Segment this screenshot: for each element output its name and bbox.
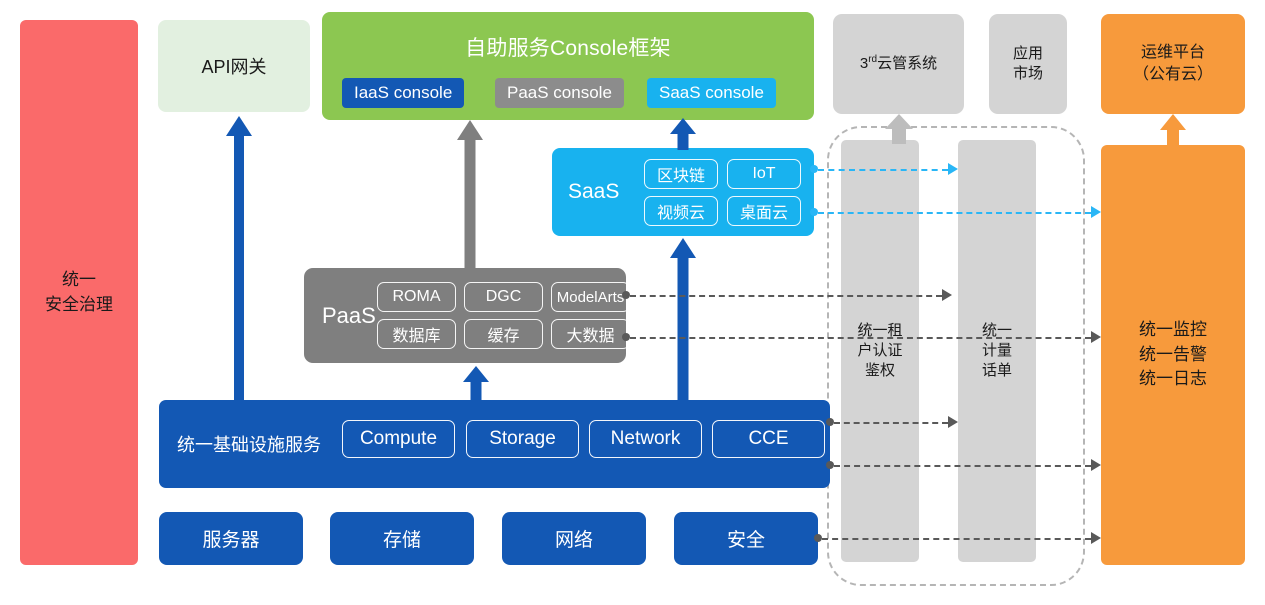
unified-metering-column: 统一 计量 话单 bbox=[958, 140, 1036, 562]
third-party-cloud-management-box[interactable]: 3rd云管系统 bbox=[833, 14, 964, 114]
saas-item-blockchain-label: 区块链 bbox=[657, 162, 705, 186]
ops-platform-line1: 运维平台 bbox=[1141, 42, 1205, 64]
auth-line2: 户认证 bbox=[857, 341, 902, 361]
paas-box: PaaS ROMA DGC ModelArts 数据库 缓存 大数据 bbox=[304, 268, 626, 363]
unified-infrastructure-label: 统一基础设施服务 bbox=[177, 431, 321, 457]
resource-network-label: 网络 bbox=[555, 525, 593, 552]
ops-monitor-line3: 统一日志 bbox=[1139, 367, 1207, 392]
infra-item-storage-label: Storage bbox=[489, 428, 556, 450]
arrow-infra-to-saas bbox=[670, 238, 696, 402]
conn-paas-to-auth-line bbox=[630, 295, 942, 297]
ops-platform-public-cloud-box[interactable]: 运维平台 （公有云） bbox=[1101, 14, 1245, 114]
conn-infra-to-ops-arrowhead bbox=[1091, 459, 1101, 471]
paas-item-roma[interactable]: ROMA bbox=[377, 282, 456, 312]
resource-server-label: 服务器 bbox=[202, 525, 259, 552]
resource-storage-label: 存储 bbox=[383, 525, 421, 552]
infra-item-storage[interactable]: Storage bbox=[466, 420, 579, 458]
self-service-console-frame: 自助服务Console框架 IaaS console PaaS console … bbox=[322, 12, 814, 120]
conn-paas-to-auth-arrowhead bbox=[942, 289, 952, 301]
paas-label: PaaS bbox=[322, 303, 376, 329]
infra-item-network[interactable]: Network bbox=[589, 420, 702, 458]
saas-item-iot-label: IoT bbox=[752, 165, 775, 183]
conn-resource-to-ops-line bbox=[822, 538, 1091, 540]
conn-saas-to-ops-arrowhead bbox=[1091, 206, 1101, 218]
ops-monitoring-panel: 统一监控 统一告警 统一日志 bbox=[1101, 145, 1245, 565]
paas-item-modelarts[interactable]: ModelArts bbox=[551, 282, 630, 312]
saas-item-video-cloud-label: 视频云 bbox=[657, 199, 705, 223]
saas-console-label: SaaS console bbox=[659, 83, 764, 103]
ops-monitor-line1: 统一监控 bbox=[1139, 318, 1207, 343]
conn-saas-ops-dot bbox=[810, 208, 818, 216]
app-market-line2: 市场 bbox=[1013, 64, 1043, 84]
security-governance-line2: 安全治理 bbox=[45, 293, 113, 318]
console-frame-title: 自助服务Console框架 bbox=[322, 32, 814, 62]
security-governance-line1: 统一 bbox=[62, 268, 96, 293]
iaas-console-label: IaaS console bbox=[354, 83, 452, 103]
infra-item-cce[interactable]: CCE bbox=[712, 420, 825, 458]
auth-line3: 鉴权 bbox=[865, 361, 895, 381]
api-gateway-box[interactable]: API网关 bbox=[158, 20, 310, 112]
paas-item-dgc[interactable]: DGC bbox=[464, 282, 543, 312]
resource-security-box[interactable]: 安全 bbox=[674, 512, 818, 565]
api-gateway-label: API网关 bbox=[201, 53, 266, 79]
conn-paas-to-ops-arrowhead bbox=[1091, 331, 1101, 343]
conn-paas-ops-dot bbox=[622, 333, 630, 341]
conn-infra-auth-dot bbox=[826, 418, 834, 426]
conn-resource-to-ops-arrowhead bbox=[1091, 532, 1101, 544]
resource-server-box[interactable]: 服务器 bbox=[159, 512, 303, 565]
paas-item-cache-label: 缓存 bbox=[487, 322, 519, 346]
app-market-line1: 应用 bbox=[1013, 44, 1043, 64]
paas-console-chip[interactable]: PaaS console bbox=[495, 78, 624, 108]
arrow-ops-side-to-ops-top bbox=[1160, 114, 1186, 146]
arrow-shared-to-third-party bbox=[886, 114, 912, 144]
metering-line2: 计量 bbox=[982, 341, 1012, 361]
conn-infra-ops-dot bbox=[826, 461, 834, 469]
saas-item-desktop-cloud-label: 桌面云 bbox=[740, 199, 788, 223]
paas-item-database[interactable]: 数据库 bbox=[377, 319, 456, 349]
arrow-infra-to-api-gateway bbox=[226, 116, 252, 402]
saas-item-desktop-cloud[interactable]: 桌面云 bbox=[727, 196, 801, 226]
conn-infra-to-auth-arrowhead bbox=[948, 416, 958, 428]
infra-item-cce-label: CCE bbox=[748, 428, 788, 450]
infra-item-compute-label: Compute bbox=[360, 428, 437, 450]
conn-paas-to-ops-line bbox=[630, 337, 1091, 339]
conn-saas-to-auth-arrowhead bbox=[948, 163, 958, 175]
saas-item-video-cloud[interactable]: 视频云 bbox=[644, 196, 718, 226]
third-party-label: 3rd云管系统 bbox=[860, 53, 937, 74]
resource-network-box[interactable]: 网络 bbox=[502, 512, 646, 565]
ops-monitor-line2: 统一告警 bbox=[1139, 343, 1207, 368]
security-governance-panel: 统一 安全治理 bbox=[20, 20, 138, 565]
resource-security-label: 安全 bbox=[727, 525, 765, 552]
conn-infra-to-ops-line bbox=[834, 465, 1091, 467]
arrow-infra-to-paas bbox=[463, 366, 489, 402]
iaas-console-chip[interactable]: IaaS console bbox=[342, 78, 464, 108]
conn-saas-auth-dot bbox=[810, 165, 818, 173]
conn-paas-auth-dot bbox=[622, 291, 630, 299]
paas-item-bigdata[interactable]: 大数据 bbox=[551, 319, 630, 349]
saas-box: SaaS 区块链 IoT 视频云 桌面云 bbox=[552, 148, 814, 236]
infra-item-compute[interactable]: Compute bbox=[342, 420, 455, 458]
saas-label: SaaS bbox=[568, 180, 619, 204]
resource-storage-box[interactable]: 存储 bbox=[330, 512, 474, 565]
unified-infrastructure-service-box: 统一基础设施服务 Compute Storage Network CCE bbox=[159, 400, 830, 488]
ops-platform-line2: （公有云） bbox=[1133, 64, 1213, 86]
conn-infra-to-auth-line bbox=[834, 422, 948, 424]
conn-saas-to-auth-line bbox=[818, 169, 948, 171]
arrow-paas-to-console bbox=[457, 120, 483, 270]
metering-line3: 话单 bbox=[982, 361, 1012, 381]
paas-item-dgc-label: DGC bbox=[486, 288, 522, 306]
paas-item-roma-label: ROMA bbox=[393, 288, 441, 306]
app-market-box[interactable]: 应用 市场 bbox=[989, 14, 1067, 114]
infra-item-network-label: Network bbox=[611, 428, 681, 450]
conn-saas-to-ops-line bbox=[818, 212, 1091, 214]
arrow-saas-to-console bbox=[670, 118, 696, 150]
saas-item-iot[interactable]: IoT bbox=[727, 159, 801, 189]
paas-item-modelarts-label: ModelArts bbox=[557, 289, 625, 306]
saas-console-chip[interactable]: SaaS console bbox=[647, 78, 776, 108]
architecture-diagram: 统一 安全治理 API网关 自助服务Console框架 IaaS console… bbox=[0, 0, 1265, 605]
paas-item-database-label: 数据库 bbox=[392, 322, 440, 346]
paas-item-bigdata-label: 大数据 bbox=[566, 322, 614, 346]
paas-item-cache[interactable]: 缓存 bbox=[464, 319, 543, 349]
unified-tenant-auth-column: 统一租 户认证 鉴权 bbox=[841, 140, 919, 562]
saas-item-blockchain[interactable]: 区块链 bbox=[644, 159, 718, 189]
paas-console-label: PaaS console bbox=[507, 83, 612, 103]
conn-resource-ops-dot bbox=[814, 534, 822, 542]
